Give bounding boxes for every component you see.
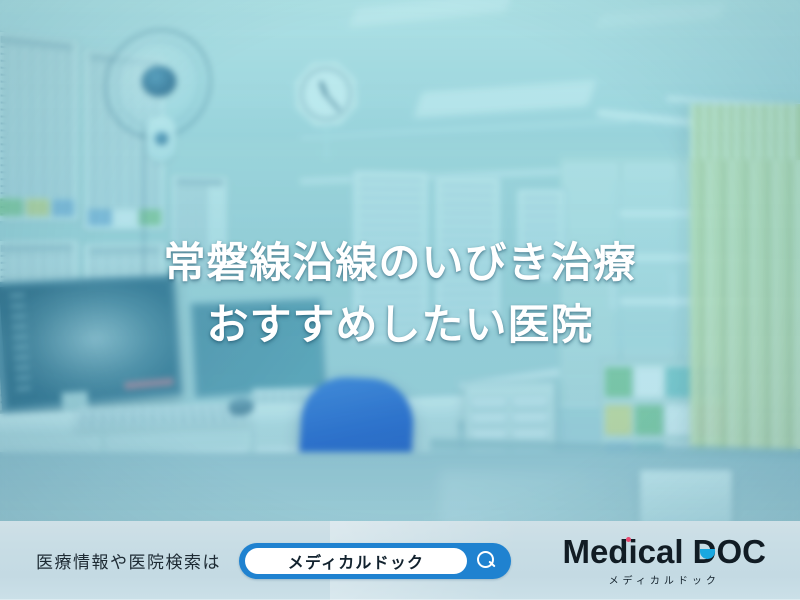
brand-name-text: Medical DOC bbox=[562, 533, 766, 570]
title-line-2: おすすめしたい医院 bbox=[0, 294, 800, 356]
footer-bar: 医療情報や医院検索は メディカルドック Medical DOC メディカルドック bbox=[0, 521, 800, 600]
brand-logo[interactable]: Medical DOC メディカルドック bbox=[562, 535, 766, 587]
hero-banner: 常磐線沿線のいびき治療 おすすめしたい医院 医療情報や医院検索は メディカルドッ… bbox=[0, 0, 800, 600]
search-input-value: メディカルドック bbox=[288, 549, 424, 573]
title-line-1: 常磐線沿線のいびき治療 bbox=[0, 232, 800, 294]
search-icon[interactable] bbox=[477, 551, 497, 571]
page-title: 常磐線沿線のいびき治療 おすすめしたい医院 bbox=[0, 232, 800, 356]
footer-lead-text: 医療情報や医院検索は bbox=[36, 548, 221, 573]
brand-name: Medical DOC bbox=[562, 535, 766, 569]
search-bar[interactable]: メディカルドック bbox=[239, 543, 511, 579]
brand-subtitle: メディカルドック bbox=[562, 572, 766, 587]
search-input[interactable]: メディカルドック bbox=[245, 548, 467, 574]
